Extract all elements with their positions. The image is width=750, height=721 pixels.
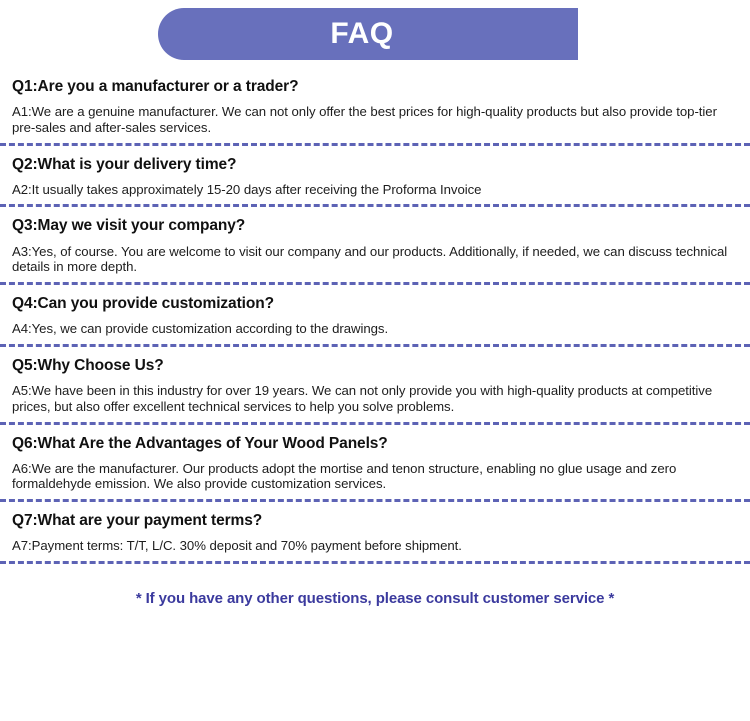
faq-question: Q4:Can you provide customization? [12, 294, 738, 313]
faq-answer: A2:It usually takes approximately 15-20 … [12, 182, 738, 198]
faq-divider [0, 561, 750, 564]
faq-item: Q7:What are your payment terms? A7:Payme… [12, 502, 738, 554]
faq-answer: A5:We have been in this industry for ove… [12, 383, 738, 414]
faq-question: Q1:Are you a manufacturer or a trader? [12, 77, 738, 96]
faq-answer: A7:Payment terms: T/T, L/C. 30% deposit … [12, 538, 738, 554]
faq-banner: FAQ [158, 8, 578, 60]
faq-list: Q1:Are you a manufacturer or a trader? A… [0, 68, 750, 564]
faq-question: Q6:What Are the Advantages of Your Wood … [12, 434, 738, 453]
faq-question: Q2:What is your delivery time? [12, 155, 738, 174]
faq-item: Q1:Are you a manufacturer or a trader? A… [12, 68, 738, 136]
faq-item: Q5:Why Choose Us? A5:We have been in thi… [12, 347, 738, 415]
faq-question: Q5:Why Choose Us? [12, 356, 738, 375]
faq-item: Q3:May we visit your company? A3:Yes, of… [12, 207, 738, 275]
faq-answer: A4:Yes, we can provide customization acc… [12, 321, 738, 337]
faq-question: Q3:May we visit your company? [12, 216, 738, 235]
faq-question: Q7:What are your payment terms? [12, 511, 738, 530]
faq-item: Q4:Can you provide customization? A4:Yes… [12, 285, 738, 337]
customer-service-note: * If you have any other questions, pleas… [136, 590, 614, 607]
faq-answer: A3:Yes, of course. You are welcome to vi… [12, 244, 738, 275]
faq-item: Q2:What is your delivery time? A2:It usu… [12, 146, 738, 198]
faq-answer: A1:We are a genuine manufacturer. We can… [12, 104, 738, 135]
faq-banner-row: FAQ [0, 0, 750, 68]
faq-answer: A6:We are the manufacturer. Our products… [12, 461, 738, 492]
faq-footer: * If you have any other questions, pleas… [0, 590, 750, 608]
faq-banner-title: FAQ [330, 19, 405, 49]
faq-item: Q6:What Are the Advantages of Your Wood … [12, 425, 738, 493]
